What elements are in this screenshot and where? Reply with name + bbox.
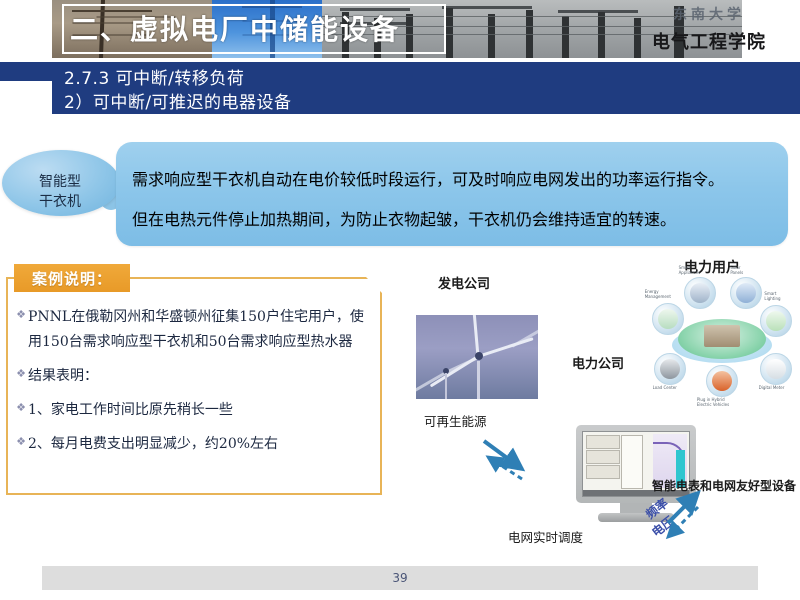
case-item-text: PNNL在俄勒冈州和华盛顿州征集150户住宅用户，使用150台需求响应型干衣机和… bbox=[28, 305, 374, 355]
case-study-list: ❖ PNNL在俄勒冈州和华盛顿州征集150户住宅用户，使用150台需求响应型干衣… bbox=[14, 305, 374, 466]
hub-node-smart-appliances bbox=[684, 277, 716, 309]
smart-dryer-ellipse-label: 智能型 干衣机 bbox=[10, 172, 110, 212]
case-item-text: 结果表明： bbox=[28, 364, 98, 389]
university-logo: 东南大学 电气工程学院 bbox=[634, 4, 784, 54]
case-study-tab-label: 案例说明： bbox=[32, 268, 112, 289]
bullet-diamond-icon: ❖ bbox=[14, 309, 28, 320]
list-item: ❖ 结果表明： bbox=[14, 364, 374, 389]
ellipse-label-line-2: 干衣机 bbox=[10, 192, 110, 212]
ellipse-label-line-1: 智能型 bbox=[10, 172, 110, 192]
hub-node-label-plug-in-hybrid-electric-vehicles: Plug in HybridElectric Vehicles bbox=[697, 397, 729, 407]
description-bubble-text: 需求响应型干衣机自动在电价较低时段运行，可及时响应电网发出的功率运行指令。 但在… bbox=[132, 150, 778, 246]
hub-node-solar-panels bbox=[730, 277, 762, 309]
hub-node-label-smart-appliances: SmartAppliances bbox=[679, 265, 701, 275]
diagram-caption-renewable: 可再生能源 bbox=[424, 411, 487, 430]
diagram-label-generation: 发电公司 bbox=[438, 273, 490, 292]
list-item: ❖ 1、家电工作时间比原先稍长一些 bbox=[14, 398, 374, 423]
subtitle-line-1: 2.7.3 可中断/转移负荷 bbox=[64, 64, 244, 89]
grid-monitor-illustration bbox=[576, 425, 696, 525]
hub-node-digital-meter bbox=[760, 353, 792, 385]
hub-node-energy-management bbox=[652, 303, 684, 335]
case-item-text: 2、每月电费支出明显减少，约20%左右 bbox=[28, 432, 278, 457]
slide-root: 二、虚拟电厂中储能设备 东南大学 电气工程学院 2.7.3 可中断/转移负荷 2… bbox=[0, 0, 800, 600]
subtitle-line-2: 2）可中断/可推迟的电器设备 bbox=[64, 88, 292, 113]
page-title: 二、虚拟电厂中储能设备 bbox=[70, 8, 470, 48]
logo-school-name: 电气工程学院 bbox=[634, 28, 784, 54]
hub-node-smart-lighting bbox=[760, 305, 792, 337]
list-item: ❖ PNNL在俄勒冈州和华盛顿州征集150户住宅用户，使用150台需求响应型干衣… bbox=[14, 305, 374, 355]
logo-university-name: 东南大学 bbox=[634, 4, 784, 24]
smart-home-hub-illustration: EnergyManagement SmartAppliances SolarPa… bbox=[646, 267, 796, 407]
case-study-tab: 案例说明： bbox=[14, 264, 130, 292]
subtitle-bar-stub bbox=[0, 62, 54, 81]
diagram-caption-dispatch: 电网实时调度 bbox=[508, 527, 583, 546]
hub-node-label-smart-lighting: SmartLighting bbox=[764, 291, 780, 301]
diagram-label-utility: 电力公司 bbox=[572, 353, 624, 372]
page-number: 39 bbox=[0, 566, 800, 590]
hub-node-load-center bbox=[654, 353, 686, 385]
hub-center-home bbox=[704, 325, 740, 347]
case-item-text: 1、家电工作时间比原先稍长一些 bbox=[28, 398, 233, 423]
bullet-diamond-icon: ❖ bbox=[14, 402, 28, 413]
bullet-diamond-icon: ❖ bbox=[14, 368, 28, 379]
hub-node-label-solar-panels: SolarPanels bbox=[730, 265, 743, 275]
hub-node-label-energy-management: EnergyManagement bbox=[645, 289, 671, 299]
list-item: ❖ 2、每月电费支出明显减少，约20%左右 bbox=[14, 432, 374, 457]
bubble-paragraph-1: 需求响应型干衣机自动在电价较低时段运行，可及时响应电网发出的功率运行指令。 bbox=[132, 166, 778, 190]
hub-node-label-digital-meter: Digital Meter bbox=[759, 385, 785, 390]
hub-node-label-load-center: Load Center bbox=[653, 385, 677, 390]
smart-grid-diagram: 发电公司 可再生能源 电力公司 bbox=[396, 255, 800, 545]
bullet-diamond-icon: ❖ bbox=[14, 436, 28, 447]
wind-turbine-photo bbox=[416, 315, 538, 399]
diagram-caption-smart-device: 智能电表和电网友好型设备 bbox=[652, 477, 796, 494]
bubble-paragraph-2: 但在电热元件停止加热期间，为防止衣物起皱，干衣机仍会维持适宜的转速。 bbox=[132, 206, 778, 230]
hub-node-plug-in-hybrid-electric-vehicles bbox=[706, 365, 738, 397]
